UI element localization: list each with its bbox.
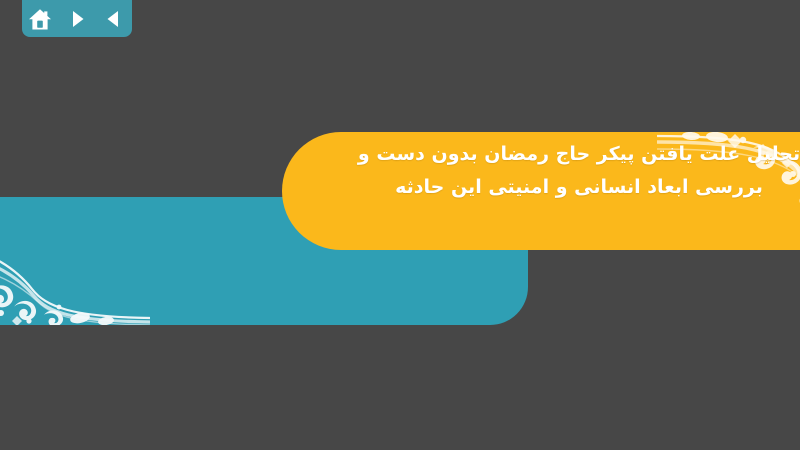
slide-title: تحلیل علت یافتن پیکر حاج رمضان بدون دست … xyxy=(340,138,800,203)
previous-slide-button[interactable] xyxy=(100,6,128,32)
next-slide-button[interactable] xyxy=(63,6,91,32)
triangle-right-icon xyxy=(67,9,87,29)
arabesque-ornament-band xyxy=(0,197,150,325)
title-banner: تحلیل علت یافتن پیکر حاج رمضان بدون دست … xyxy=(282,132,800,250)
navigation-toolbar[interactable] xyxy=(22,0,132,37)
home-icon xyxy=(28,8,52,31)
triangle-left-icon xyxy=(104,9,124,29)
home-slide-button[interactable] xyxy=(26,6,54,32)
slide-canvas: تحلیل علت یافتن پیکر حاج رمضان بدون دست … xyxy=(0,0,800,450)
